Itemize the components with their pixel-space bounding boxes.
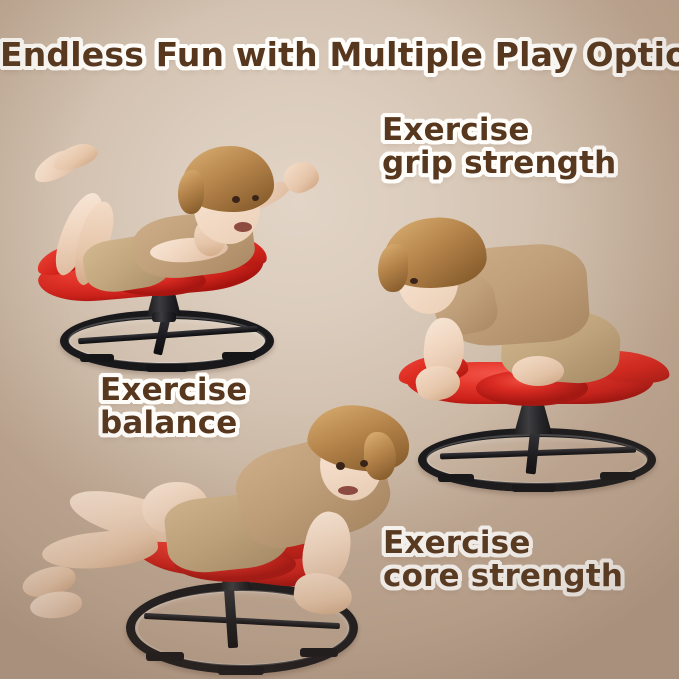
child-foot <box>50 139 101 174</box>
spinner-base-foot <box>218 666 264 675</box>
caption-balance-line2: balance <box>100 407 248 440</box>
child-eye <box>410 278 418 284</box>
caption-core-line1: Exercise <box>383 525 531 561</box>
spinner-base-foot <box>600 472 636 480</box>
child-eye <box>360 460 368 467</box>
child-eye <box>232 196 240 203</box>
spinner-base-foot <box>222 352 256 360</box>
spinner-base-foot <box>300 648 338 657</box>
caption-grip-strength: Exercise grip strength <box>382 114 616 180</box>
page-title: Endless Fun with Multiple Play Options <box>0 38 679 73</box>
caption-balance-line1: Exercise <box>100 372 248 408</box>
child-hair-side <box>364 432 396 480</box>
spinner-base-foot <box>80 354 114 362</box>
spinner-pedestal-collar <box>152 312 176 322</box>
caption-core-strength: Exercise core strength <box>383 527 623 593</box>
caption-grip-line2: grip strength <box>382 147 616 180</box>
child-knee <box>512 356 564 386</box>
child-hair-side <box>178 170 204 214</box>
child-hair-side <box>378 244 408 292</box>
caption-grip-line1: Exercise <box>382 112 530 148</box>
spinner-base-foot <box>146 652 184 661</box>
child-mouth <box>338 486 358 495</box>
caption-balance: Exercise balance <box>100 374 248 440</box>
caption-core-line2: core strength <box>383 560 623 593</box>
spinner-base-foot <box>512 484 556 492</box>
child-eye <box>252 195 259 201</box>
child-mouth <box>234 222 252 232</box>
spinner-base-foot <box>146 364 188 372</box>
spinner-base-foot <box>438 474 474 482</box>
child-eye <box>336 462 345 470</box>
product-infographic: Endless Fun with Multiple Play Options E… <box>0 0 679 679</box>
photo-balance <box>18 126 348 370</box>
